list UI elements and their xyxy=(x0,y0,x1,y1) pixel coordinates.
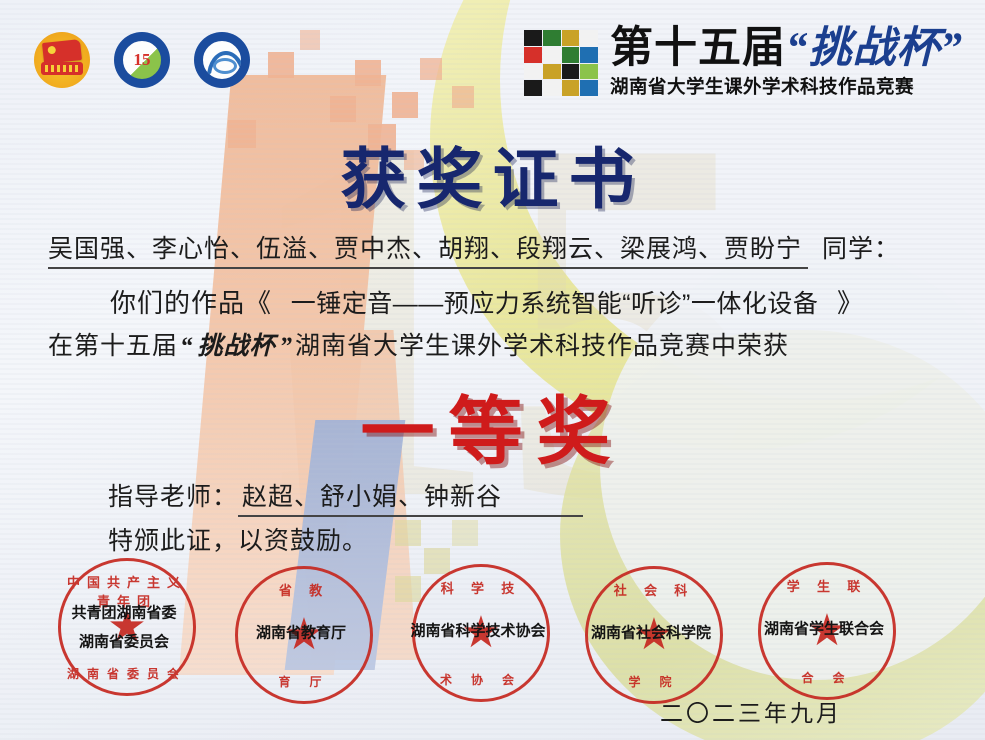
contest-quote-open: “ xyxy=(180,333,194,361)
work-title-row: 你们的作品《 一锤定音——预应力系统智能“听诊”一体化设备 》 xyxy=(110,283,864,320)
award-certificate: 15 15 xyxy=(0,0,985,740)
closing-remark: 特颁此证，以资鼓励。 xyxy=(108,521,368,557)
seal-arc-bottom: 学 院 xyxy=(588,673,720,690)
advisor-names: 赵超、舒小娟、钟新谷 xyxy=(238,477,583,517)
advisor-label: 指导老师： xyxy=(108,477,238,513)
advisor-row: 指导老师： 赵超、舒小娟、钟新谷 xyxy=(108,477,583,517)
recipients-names: 吴国强、李心怡、伍溢、贾中杰、胡翔、段翔云、梁展鸿、贾盼宁 xyxy=(48,229,808,269)
seal-label-hunan-education-department: 湖南省教育厅 xyxy=(256,622,346,643)
seal-arc-bottom: 育 厅 xyxy=(238,673,370,690)
seal-arc-bottom: 合 会 xyxy=(761,669,893,686)
seal-label-hunan-student-federation: 湖南省学生联合会 xyxy=(764,618,884,639)
work-title-text: 一锤定音——预应力系统智能“听诊”一体化设备 xyxy=(272,284,837,320)
contest-suffix: 湖南省大学生课外学术科技作品竞赛中荣获 xyxy=(295,326,789,362)
contest-cup-name: 挑战杯 xyxy=(198,326,276,362)
seal-label-line: 共青团湖南省委 xyxy=(71,600,176,629)
contest-row: 在第十五届 “ 挑战杯 ” 湖南省大学生课外学术科技作品竞赛中荣获 xyxy=(48,326,789,362)
seal-arc-top: 科 学 技 xyxy=(415,578,547,597)
seal-label-line: 湖南省委员会 xyxy=(71,628,176,657)
official-seals: 中国共产主义青年团 湖南省委员会 共青团湖南省委 湖南省委员会 省 教 育 厅 … xyxy=(0,556,985,696)
seal-arc-bottom: 湖南省委员会 xyxy=(61,665,193,682)
seal-label-hunan-academy-social-sciences: 湖南省社会科学院 xyxy=(591,622,711,643)
certificate-title: 获奖证书 xyxy=(0,126,985,222)
recipients-suffix: 同学： xyxy=(822,229,900,265)
work-close-bracket: 》 xyxy=(837,283,864,320)
seal-label-communist-youth-league: 共青团湖南省委 湖南省委员会 xyxy=(71,600,176,657)
seal-arc-bottom: 术 协 会 xyxy=(415,671,547,688)
issue-date: 二〇二三年九月 xyxy=(660,694,842,728)
contest-prefix: 在第十五届 xyxy=(48,326,178,362)
work-lead-text: 你们的作品《 xyxy=(110,283,272,320)
seal-arc-top: 社 会 科 xyxy=(588,580,720,599)
recipients-row: 吴国强、李心怡、伍溢、贾中杰、胡翔、段翔云、梁展鸿、贾盼宁 同学： xyxy=(48,229,900,269)
award-level: 一等奖 xyxy=(0,372,985,479)
seal-label-hunan-science-technology-association: 湖南省科学技术协会 xyxy=(410,620,545,641)
seal-arc-top: 省 教 xyxy=(238,580,370,599)
contest-quote-close: ” xyxy=(280,333,294,361)
seal-arc-top: 学 生 联 xyxy=(761,576,893,595)
